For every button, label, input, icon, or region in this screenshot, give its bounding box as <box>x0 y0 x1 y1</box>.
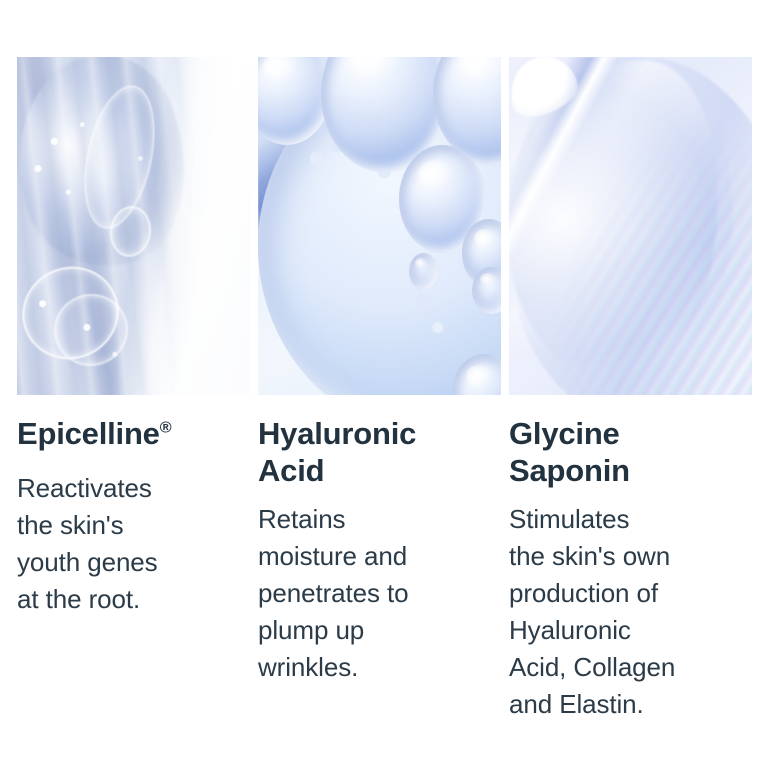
ingredient-title-text: Epicelline <box>17 416 160 451</box>
ingredient-card-hyaluronic-acid: Hyaluronic Acid Retains moisture and pen… <box>258 57 501 723</box>
ingredient-title-epicelline: Epicelline® <box>17 415 250 452</box>
gel-highlight-dots <box>17 57 250 395</box>
ingredient-description-epicelline: Reactivates the skin's youth genes at th… <box>17 470 250 618</box>
ingredient-title-glycine-saponin: Glycine Saponin <box>509 415 752 489</box>
registered-trademark-icon: ® <box>160 419 172 437</box>
ingredient-title-text: Glycine Saponin <box>509 416 630 488</box>
blue-bubbles-droplets-image <box>258 57 501 395</box>
ingredient-title-text: Hyaluronic Acid <box>258 416 416 488</box>
bubble-small-center <box>409 253 438 290</box>
ingredient-card-glycine-saponin: Glycine Saponin Stimulates the skin's ow… <box>509 57 752 723</box>
iridescent-silk-fluid-image <box>509 57 752 395</box>
ingredient-title-hyaluronic-acid: Hyaluronic Acid <box>258 415 501 489</box>
ingredient-card-epicelline: Epicelline® Reactivates the skin's youth… <box>17 57 250 723</box>
silk-iridescent-sheen <box>509 57 752 395</box>
ingredient-description-hyaluronic-acid: Retains moisture and penetrates to plump… <box>258 501 501 686</box>
ingredient-grid: Epicelline® Reactivates the skin's youth… <box>0 0 768 768</box>
ingredient-description-glycine-saponin: Stimulates the skin's own production of … <box>509 501 752 723</box>
clear-gel-serum-swirl-image <box>17 57 250 395</box>
